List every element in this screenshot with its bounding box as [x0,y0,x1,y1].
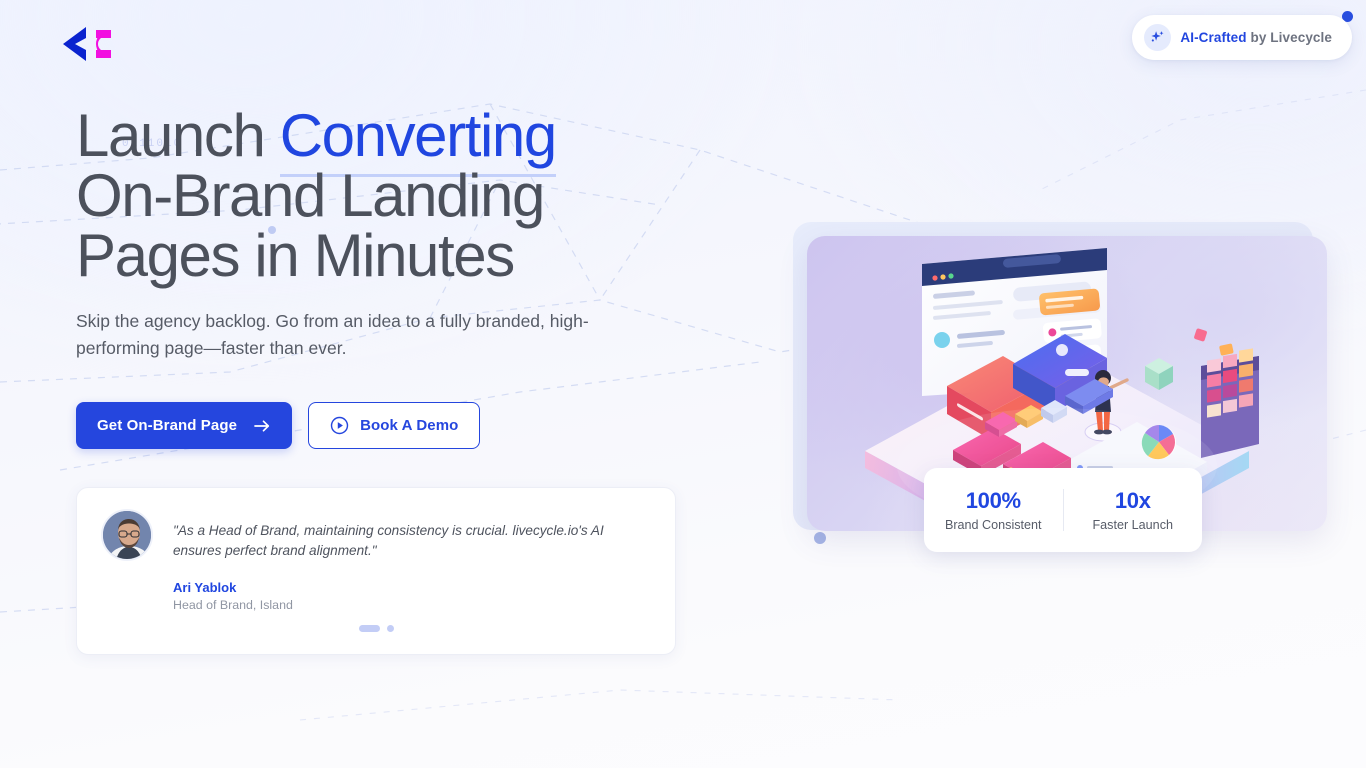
ai-badge-label: AI-Crafted by Livecycle [1180,30,1332,45]
avatar [101,509,153,561]
testimonial-card: "As a Head of Brand, maintaining consist… [76,487,676,655]
ai-crafted-badge[interactable]: AI-Crafted by Livecycle [1132,15,1352,60]
ai-badge-highlight: AI-Crafted [1180,30,1246,45]
testimonial-author-role: Head of Brand, Island [173,598,651,612]
hero-content: Launch Converting On-Brand Landing Pages… [76,106,716,449]
testimonial-quote: "As a Head of Brand, maintaining consist… [173,521,651,562]
arrow-right-icon [254,419,271,433]
secondary-cta-label: Book A Demo [360,417,458,434]
get-on-brand-page-button[interactable]: Get On-Brand Page [76,402,292,449]
testimonial-carousel-dots [77,625,675,632]
testimonial-author-name: Ari Yablok [173,580,651,595]
stat-item-0: 100% Brand Consistent [924,488,1063,532]
stat-value: 10x [1064,488,1203,514]
brand-logo[interactable] [60,23,122,65]
stat-value: 100% [924,488,1063,514]
carousel-dot-2[interactable] [387,625,394,632]
book-a-demo-button[interactable]: Book A Demo [308,402,480,449]
stat-label: Faster Launch [1064,518,1203,532]
testimonial-body: "As a Head of Brand, maintaining consist… [173,509,651,654]
hero-subtitle: Skip the agency backlog. Go from an idea… [76,308,621,362]
page-title: Launch Converting On-Brand Landing Pages… [76,106,716,286]
primary-cta-label: Get On-Brand Page [97,417,237,434]
stats-card: 100% Brand Consistent 10x Faster Launch [924,468,1202,552]
headline-line3: Pages in Minutes [76,222,514,289]
avatar-photo-icon [103,511,153,561]
carousel-dot-active[interactable] [359,625,380,632]
cta-row: Get On-Brand Page Book A Demo [76,402,716,449]
stat-item-1: 10x Faster Launch [1064,488,1203,532]
ai-badge-rest: by Livecycle [1247,30,1332,45]
stat-label: Brand Consistent [924,518,1063,532]
chevron-c-logo-icon [60,23,122,65]
headline-line1-pre: Launch [76,102,280,169]
play-circle-icon [330,416,349,435]
headline-line2: On-Brand Landing [76,162,544,229]
sparkle-icon [1144,24,1171,51]
